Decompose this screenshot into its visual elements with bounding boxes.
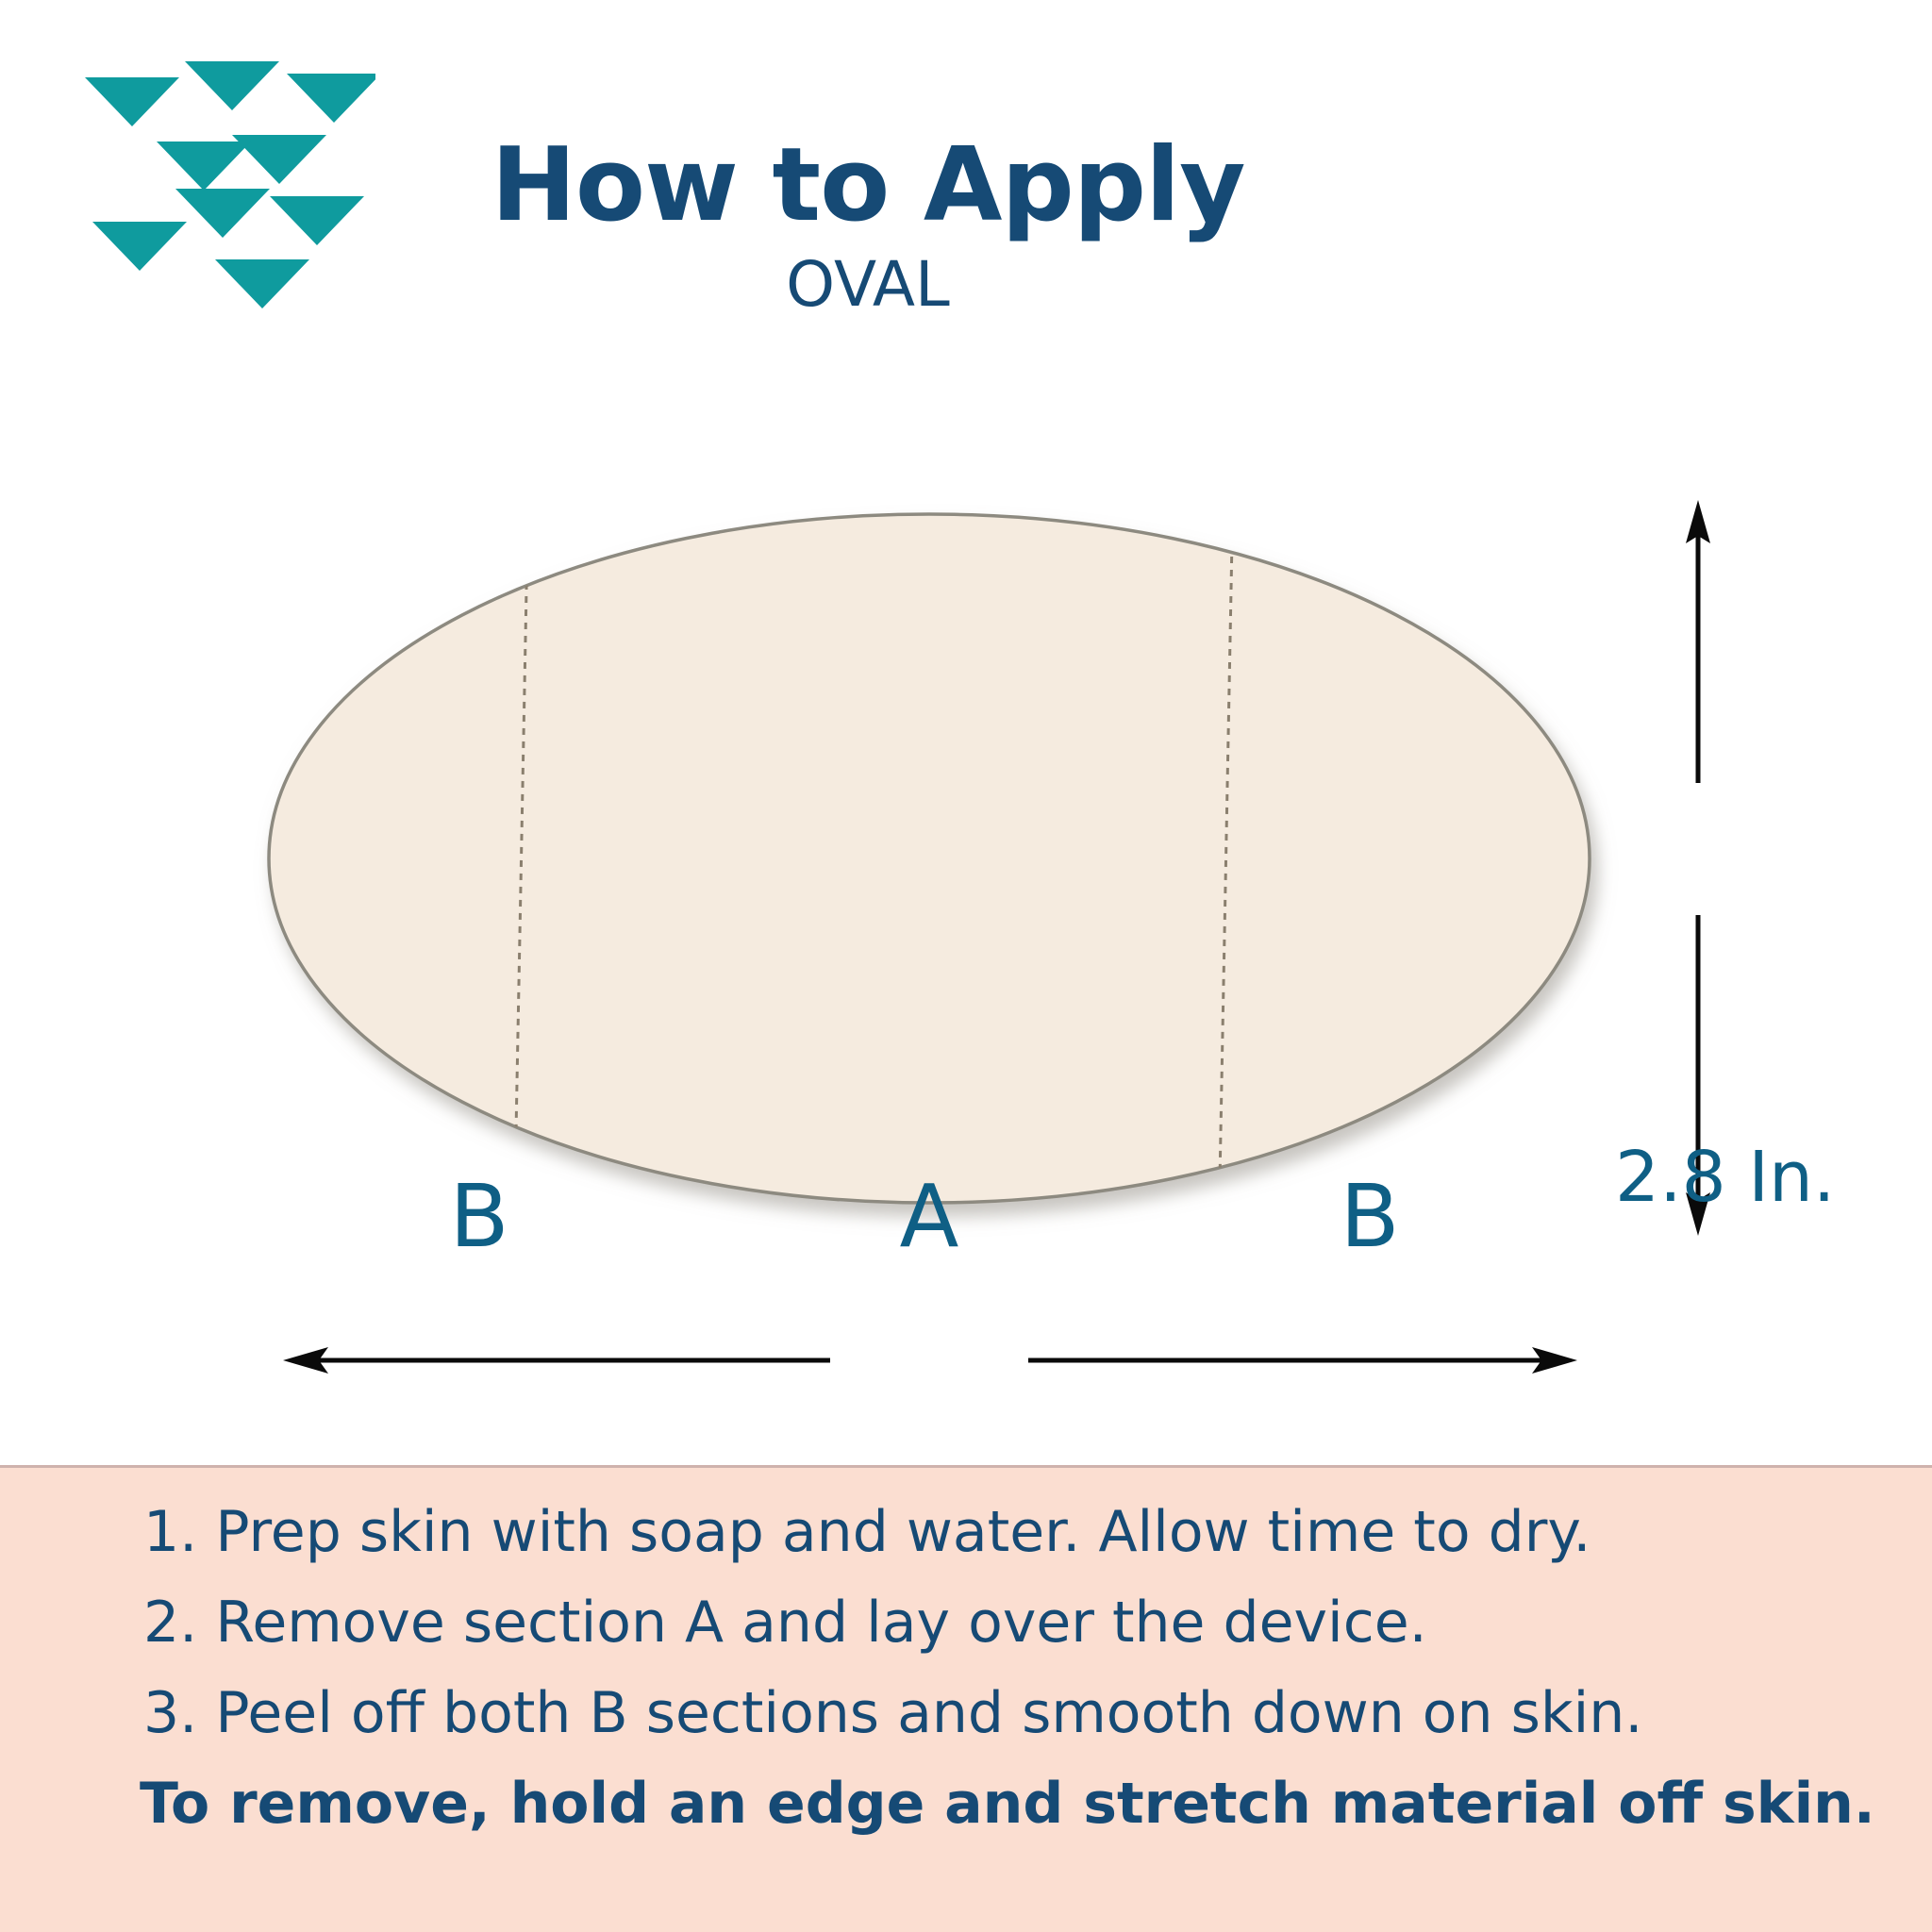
triangles-logo-svg: [74, 42, 375, 325]
page-root: How to Apply OVAL: [0, 0, 1932, 1932]
instruction-removal-note: To remove, hold an edge and stretch mate…: [0, 1775, 1932, 1832]
instruction-step-3: 3. Peel off both B sections and smooth d…: [0, 1685, 1932, 1741]
oval-dressing-diagram: B A B 2.8 In. 4 In.: [0, 358, 1932, 1462]
oval-shape: [269, 514, 1590, 1203]
vertical-dimension-arrow: [1686, 500, 1710, 1236]
dimension-height-label: 2.8 In.: [1615, 1142, 1835, 1212]
page-subtitle: OVAL: [396, 246, 1340, 325]
oval-diagram-svg: [0, 358, 1932, 1462]
page-title: How to Apply: [396, 132, 1340, 239]
instruction-step-2: 2. Remove section A and lay over the dev…: [0, 1594, 1932, 1651]
header: How to Apply OVAL: [396, 132, 1340, 325]
horizontal-dimension-arrow: [283, 1347, 1577, 1374]
instruction-step-1: 1. Prep skin with soap and water. Allow …: [0, 1504, 1932, 1560]
instructions-panel: 1. Prep skin with soap and water. Allow …: [0, 1465, 1932, 1932]
section-label-b-right: B: [1340, 1174, 1399, 1260]
section-label-b-left: B: [449, 1174, 508, 1260]
section-label-a: A: [900, 1174, 959, 1260]
triangles-logo: [74, 42, 375, 325]
